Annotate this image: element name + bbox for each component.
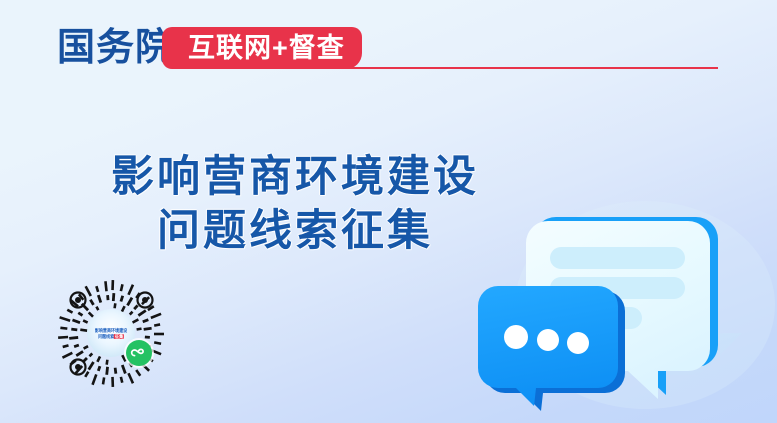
badge-label: 互联网+督查 bbox=[188, 33, 345, 63]
wechat-mini-program-glyph bbox=[126, 340, 152, 366]
bubble-text-line-1 bbox=[550, 247, 685, 269]
wechat-mini-program-icon bbox=[126, 340, 152, 366]
title-line-2: 问题线索征集 bbox=[60, 204, 530, 258]
qr-code[interactable]: 影响营商环境建设 问题线索征集 bbox=[55, 278, 167, 390]
typing-dot-2 bbox=[537, 329, 559, 351]
title-line-1: 影响营商环境建设 bbox=[60, 150, 530, 204]
typing-dot-1 bbox=[504, 325, 528, 349]
header-divider-rule bbox=[330, 67, 718, 69]
poster-canvas: 国务院 互联网+督查 影响营商环境建设 问题线索征集 bbox=[0, 0, 777, 423]
page-title: 影响营商环境建设 问题线索征集 bbox=[60, 150, 530, 258]
header: 国务院 互联网+督查 bbox=[0, 0, 777, 80]
qr-code-graphic bbox=[55, 278, 167, 390]
internet-plus-supervision-badge[interactable]: 互联网+督查 bbox=[162, 27, 362, 69]
gov-name-label: 国务院 bbox=[57, 26, 174, 70]
chat-bubbles-illustration bbox=[470, 185, 777, 423]
chat-bubbles-graphic bbox=[470, 185, 777, 423]
typing-dot-3 bbox=[567, 332, 589, 354]
